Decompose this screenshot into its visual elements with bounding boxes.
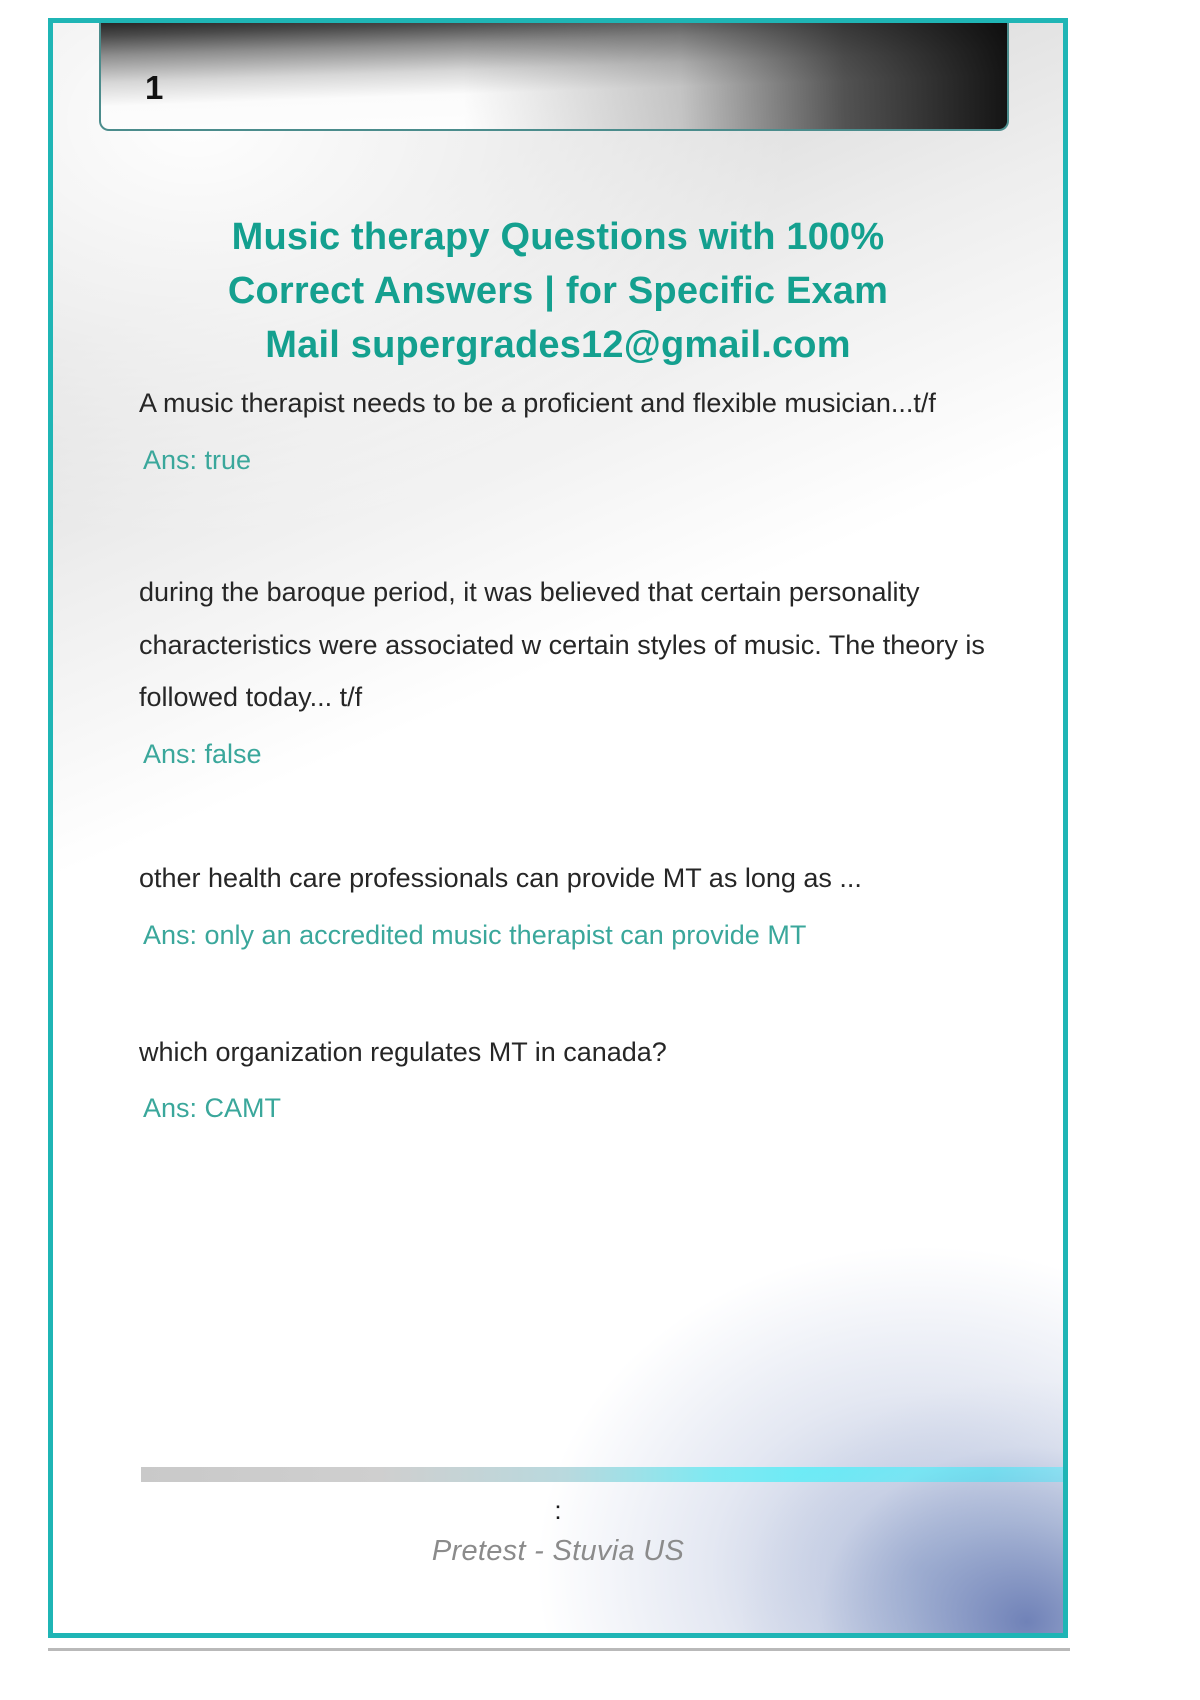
page-number: 1 — [145, 71, 163, 104]
question-text: which organization regulates MT in canad… — [93, 1026, 1023, 1079]
answer-text: Ans: CAMT — [93, 1088, 1023, 1129]
qa-block: which organization regulates MT in canad… — [93, 1026, 1023, 1129]
qa-block: A music therapist needs to be a proficie… — [93, 377, 1023, 480]
qa-list: A music therapist needs to be a proficie… — [93, 377, 1023, 1129]
document-title: Music therapy Questions with 100% Correc… — [93, 211, 1023, 373]
answer-text: Ans: true — [93, 440, 1023, 481]
answer-text: Ans: false — [93, 734, 1023, 775]
answer-text: Ans: only an accredited music therapist … — [93, 915, 1023, 956]
page-number-tab: 1 — [99, 23, 1009, 131]
question-text: other health care professionals can prov… — [93, 852, 1023, 905]
footer-divider-bar — [141, 1467, 1063, 1482]
title-line-2: Correct Answers | for Specific Exam — [107, 265, 1009, 319]
footer-source-label: Pretest - Stuvia US — [53, 1535, 1063, 1568]
page-footer: : Pretest - Stuvia US — [53, 1443, 1063, 1633]
document-page-surface: 1 Music therapy Questions with 100% Corr… — [53, 23, 1063, 1633]
document-page-frame: 1 Music therapy Questions with 100% Corr… — [48, 18, 1068, 1638]
question-text: A music therapist needs to be a proficie… — [93, 377, 1023, 430]
qa-block: other health care professionals can prov… — [93, 852, 1023, 955]
question-text: during the baroque period, it was believ… — [93, 566, 1023, 724]
title-line-1: Music therapy Questions with 100% — [107, 211, 1009, 265]
document-content: Music therapy Questions with 100% Correc… — [53, 153, 1063, 1129]
title-line-3: Mail supergrades12@gmail.com — [107, 319, 1009, 373]
qa-block: during the baroque period, it was believ… — [93, 566, 1023, 774]
bottom-rule — [48, 1648, 1070, 1651]
footer-colon: : — [53, 1497, 1063, 1523]
